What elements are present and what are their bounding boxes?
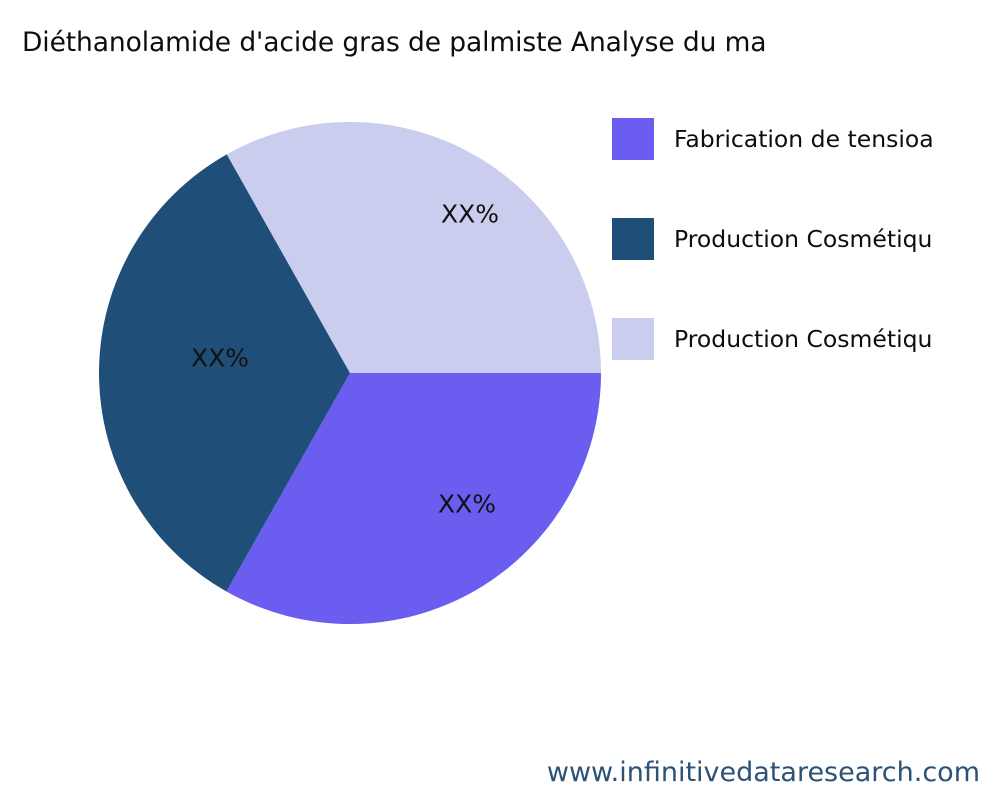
legend-color-swatch bbox=[612, 318, 654, 360]
legend-item-label: Fabrication de tensioa bbox=[674, 124, 934, 154]
legend-item[interactable]: Production Cosmétiqu bbox=[612, 318, 1000, 418]
chart-legend: Fabrication de tensioaProduction Cosméti… bbox=[612, 118, 1000, 418]
pie-slice-value-label: XX% bbox=[438, 490, 496, 519]
legend-item-label: Production Cosmétiqu bbox=[674, 224, 932, 254]
legend-color-swatch bbox=[612, 218, 654, 260]
legend-color-swatch bbox=[612, 118, 654, 160]
pie-slice-value-label: XX% bbox=[191, 344, 249, 373]
legend-item[interactable]: Fabrication de tensioa bbox=[612, 118, 1000, 218]
source-url[interactable]: www.infinitivedataresearch.com bbox=[547, 757, 980, 788]
legend-item[interactable]: Production Cosmétiqu bbox=[612, 218, 1000, 318]
legend-item-label: Production Cosmétiqu bbox=[674, 324, 932, 354]
pie-slice-value-label: XX% bbox=[441, 200, 499, 229]
chart-canvas: Diéthanolamide d'acide gras de palmiste … bbox=[0, 0, 1000, 800]
